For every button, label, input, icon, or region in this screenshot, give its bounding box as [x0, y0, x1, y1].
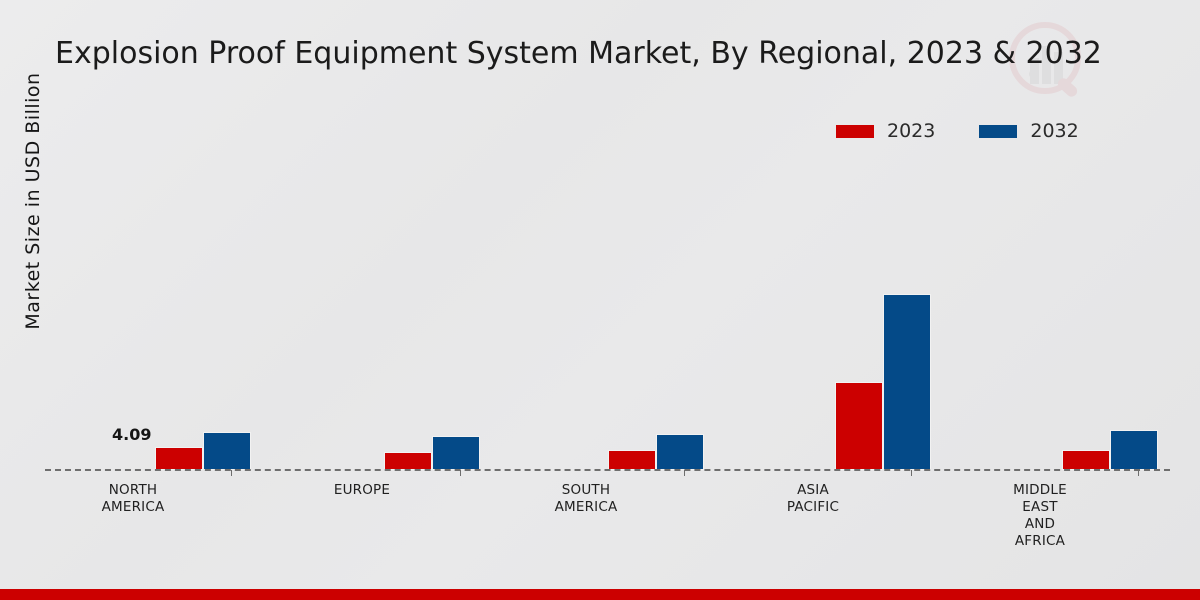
category-label-europe: EUROPE [297, 482, 427, 499]
chart-legend: 2023 2032 [836, 120, 1079, 142]
bar-2032-middle-east-and-africa[interactable] [1110, 430, 1158, 470]
bars-europe [384, 436, 480, 470]
chart-page: Explosion Proof Equipment System Market,… [0, 0, 1200, 600]
legend-item-2023[interactable]: 2023 [836, 120, 935, 142]
bar-2023-middle-east-and-africa[interactable] [1062, 450, 1110, 470]
bar-2023-europe[interactable] [384, 452, 432, 470]
bars-middle-east-and-africa [1062, 430, 1158, 470]
legend-label-2032: 2032 [1030, 120, 1078, 142]
bar-2032-asia-pacific[interactable] [883, 294, 931, 470]
legend-label-2023: 2023 [887, 120, 935, 142]
legend-swatch-2023 [836, 125, 874, 138]
category-label-middle-east-and-africa: MIDDLE EAST AND AFRICA [975, 482, 1105, 550]
chart-title: Explosion Proof Equipment System Market,… [55, 36, 1145, 71]
category-label-south-america: SOUTH AMERICA [521, 482, 651, 516]
y-axis-label: Market Size in USD Billion [22, 36, 44, 366]
category-label-asia-pacific: ASIA PACIFIC [748, 482, 878, 516]
bar-2023-north-america[interactable] [155, 447, 203, 470]
bar-2032-south-america[interactable] [656, 434, 704, 470]
legend-swatch-2032 [979, 125, 1017, 138]
plot-area [45, 160, 1175, 470]
bar-value-label-north-america-2023: 4.09 [112, 425, 151, 444]
bars-asia-pacific [835, 294, 931, 470]
category-label-north-america: NORTH AMERICA [68, 482, 198, 516]
legend-item-2032[interactable]: 2032 [979, 120, 1078, 142]
bars-south-america [608, 434, 704, 470]
bar-2023-asia-pacific[interactable] [835, 382, 883, 470]
axis-baseline [45, 469, 1170, 471]
bar-2032-north-america[interactable] [203, 432, 251, 470]
bars-north-america [155, 432, 251, 470]
bar-2023-south-america[interactable] [608, 450, 656, 470]
bar-2032-europe[interactable] [432, 436, 480, 470]
bottom-accent-band [0, 589, 1200, 600]
